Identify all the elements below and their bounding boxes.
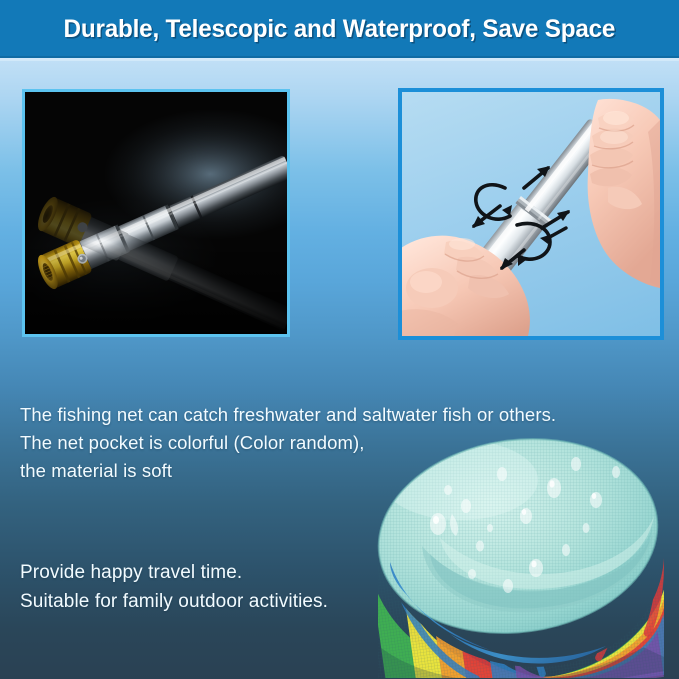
feature-line: the material is soft — [20, 457, 556, 485]
header-underline-divider — [0, 58, 679, 61]
telescopic-pole-photo — [22, 89, 290, 337]
product-feature-image: Durable, Telescopic and Waterproof, Save… — [0, 0, 679, 679]
feature-text-block-2: Provide happy travel time. Suitable for … — [20, 558, 328, 616]
feature-line: Suitable for family outdoor activities. — [20, 587, 328, 616]
hands-twisting-photo — [398, 88, 664, 340]
telescopic-pole-illustration — [25, 92, 287, 334]
feature-line: Provide happy travel time. — [20, 558, 328, 587]
hands-twisting-photo-inner — [402, 92, 660, 336]
header-title: Durable, Telescopic and Waterproof, Save… — [64, 15, 616, 44]
header-banner: Durable, Telescopic and Waterproof, Save… — [0, 0, 679, 58]
feature-line: The net pocket is colorful (Color random… — [20, 429, 556, 457]
telescopic-pole-photo-inner — [25, 92, 287, 334]
feature-line: The fishing net can catch freshwater and… — [20, 401, 556, 429]
feature-text-block-1: The fishing net can catch freshwater and… — [20, 401, 556, 485]
